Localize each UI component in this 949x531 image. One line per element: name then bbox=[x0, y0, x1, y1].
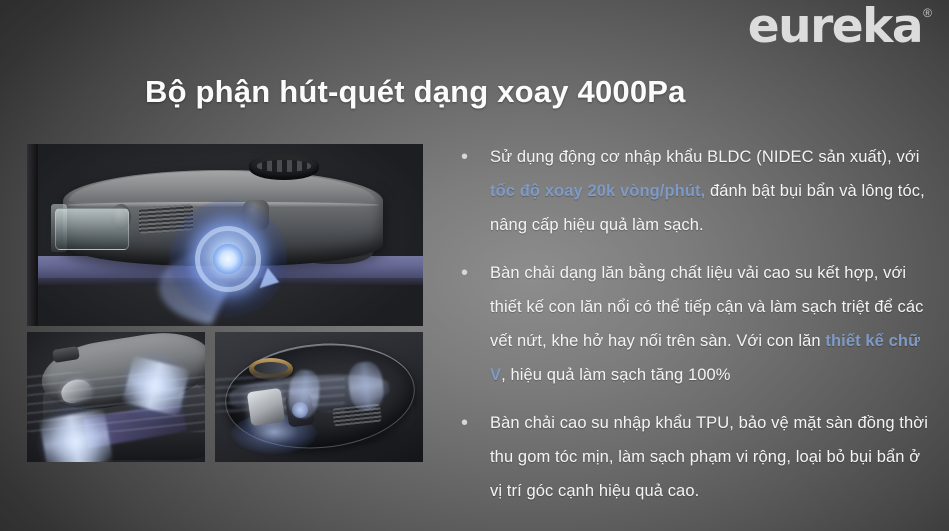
bullet-list: • Sử dụng động cơ nhập khẩu BLDC (NIDEC … bbox=[456, 140, 934, 508]
slide-title: Bộ phận hút-quét dạng xoay 4000Pa bbox=[145, 74, 686, 110]
list-item: • Bàn chải cao su nhập khẩu TPU, bảo vệ … bbox=[456, 406, 934, 508]
brand-name: eureka bbox=[748, 2, 922, 52]
bullet-marker-icon: • bbox=[456, 256, 490, 392]
product-image-side-view bbox=[27, 144, 423, 326]
product-image-group bbox=[27, 144, 423, 462]
bullet-text-brush-roller: Bàn chải dạng lăn bằng chất liệu vải cao… bbox=[490, 256, 934, 392]
registered-trademark-icon: ® bbox=[923, 6, 931, 20]
bullet-segment: Bàn chải cao su nhập khẩu TPU, bảo vệ mặ… bbox=[490, 414, 928, 500]
bullet-text-tpu-brush: Bàn chải cao su nhập khẩu TPU, bảo vệ mặ… bbox=[490, 406, 934, 508]
product-image-underside-full bbox=[215, 332, 423, 462]
product-image-underside-closeup bbox=[27, 332, 205, 462]
slide-canvas: eureka ® Bộ phận hút-quét dạng xoay 4000… bbox=[0, 0, 949, 531]
bullet-text-motor: Sử dụng động cơ nhập khẩu BLDC (NIDEC sả… bbox=[490, 140, 934, 242]
bullet-highlight: tốc độ xoay 20k vòng/phút, bbox=[490, 182, 705, 200]
bullet-segment: Sử dụng động cơ nhập khẩu BLDC (NIDEC sả… bbox=[490, 148, 920, 166]
list-item: • Sử dụng động cơ nhập khẩu BLDC (NIDEC … bbox=[456, 140, 934, 242]
bullet-marker-icon: • bbox=[456, 406, 490, 508]
eureka-logo: eureka ® bbox=[748, 2, 931, 52]
list-item: • Bàn chải dạng lăn bằng chất liệu vải c… bbox=[456, 256, 934, 392]
bullet-marker-icon: • bbox=[456, 140, 490, 242]
bullet-segment: , hiệu quả làm sạch tăng 100% bbox=[501, 366, 730, 384]
